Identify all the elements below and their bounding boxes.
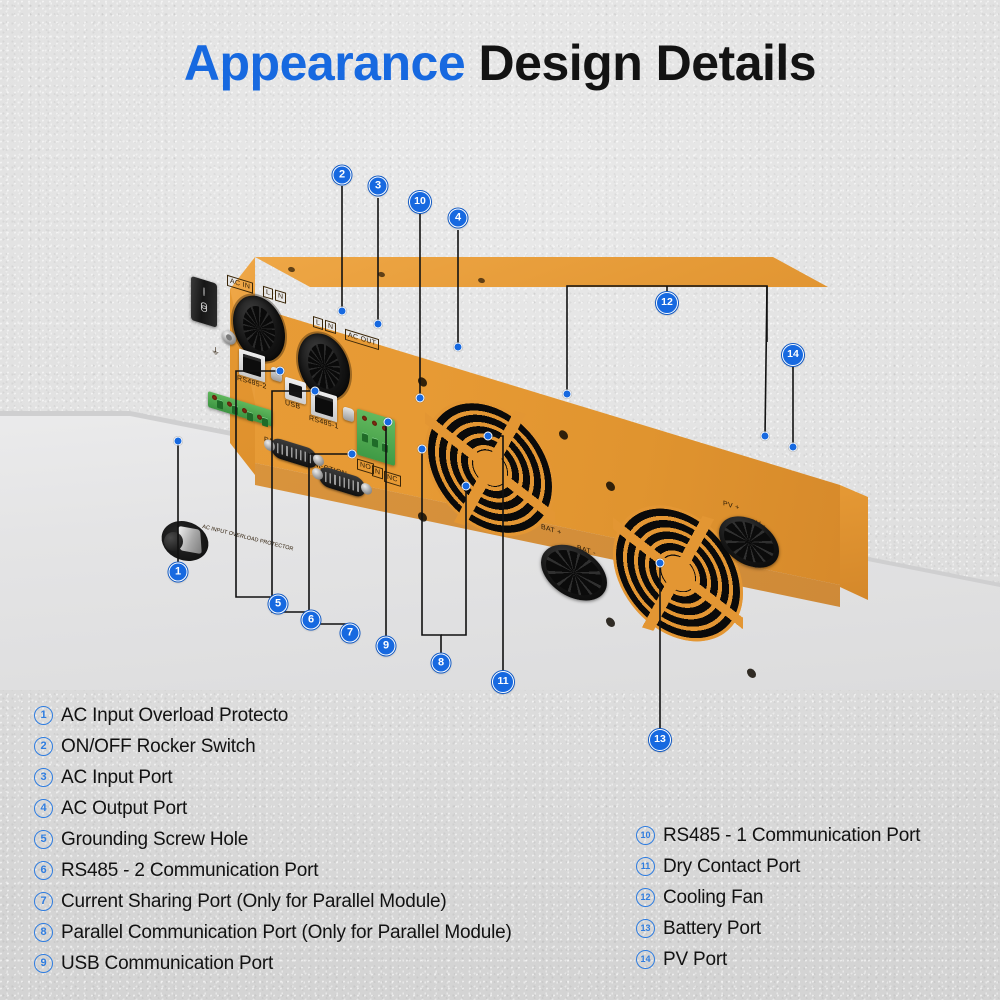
ac-input-overload-protector[interactable]: AC INPUT OVERLOAD PROTECTOR [163,520,207,562]
pv-positive-label: PV + [723,500,740,512]
legend-number-14: 14 [636,950,655,969]
legend-label-10: RS485 - 1 Communication Port [663,825,920,847]
parallel-communication-port-1[interactable] [271,436,317,470]
protector-button[interactable] [164,532,183,551]
legend-number-12: 12 [636,888,655,907]
legend-number-11: 11 [636,857,655,876]
legend-column-right: 10RS485 - 1 Communication Port 11Dry Con… [636,820,920,975]
ac-in-l-label: L [263,286,273,300]
legend: 1AC Input Overload Protecto 2ON/OFF Rock… [34,700,974,995]
legend-column-left: 1AC Input Overload Protecto 2ON/OFF Rock… [34,700,512,979]
legend-label-3: AC Input Port [61,767,172,789]
ac-in-n-label: N [275,289,286,303]
legend-number-5: 5 [34,830,53,849]
legend-number-13: 13 [636,919,655,938]
ac-out-n-label: N [325,320,336,334]
legend-item-5[interactable]: 5Grounding Screw Hole [34,824,512,855]
legend-item-7[interactable]: 7Current Sharing Port (Only for Parallel… [34,886,512,917]
legend-label-7: Current Sharing Port (Only for Parallel … [61,891,447,913]
legend-item-8[interactable]: 8Parallel Communication Port (Only for P… [34,917,512,948]
legend-number-8: 8 [34,923,53,942]
legend-label-9: USB Communication Port [61,953,273,975]
ac-input-port-insert [243,302,275,356]
legend-item-13[interactable]: 13Battery Port [636,913,920,944]
legend-item-9[interactable]: 9USB Communication Port [34,948,512,979]
legend-item-4[interactable]: 4AC Output Port [34,793,512,824]
legend-label-14: PV Port [663,949,727,971]
legend-label-8: Parallel Communication Port (Only for Pa… [61,922,512,944]
ground-symbol-icon: ⏚ [211,343,220,359]
legend-number-6: 6 [34,861,53,880]
legend-label-13: Battery Port [663,918,761,940]
ac-out-l-label: L [313,316,323,330]
legend-item-2[interactable]: 2ON/OFF Rocker Switch [34,731,512,762]
panel-mount-nut [343,406,354,422]
page-title: Appearance Design Details [0,34,1000,92]
top-vent-hole [287,266,295,273]
legend-label-4: AC Output Port [61,798,187,820]
legend-label-6: RS485 - 2 Communication Port [61,860,318,882]
legend-number-9: 9 [34,954,53,973]
legend-label-11: Dry Contact Port [663,856,800,878]
legend-number-1: 1 [34,706,53,725]
top-vent-hole [477,277,485,284]
legend-item-11[interactable]: 11Dry Contact Port [636,851,920,882]
dry-contact-n-label: N [372,465,383,479]
legend-label-2: ON/OFF Rocker Switch [61,736,255,758]
legend-item-3[interactable]: 3AC Input Port [34,762,512,793]
product-photo-scene: AC INPUT OVERLOAD PROTECTOR I O AC IN L … [0,100,1000,690]
ac-output-port-insert [308,340,340,394]
legend-item-6[interactable]: 6RS485 - 2 Communication Port [34,855,512,886]
panel-mount-nut [271,366,282,382]
ac-out-label: AC OUT [345,329,379,350]
dry-contact-port[interactable] [357,408,395,466]
page-title-accent: Appearance [184,35,465,91]
fan-screw [418,376,427,388]
page-title-rest: Design Details [465,35,816,91]
legend-item-12[interactable]: 12Cooling Fan [636,882,920,913]
legend-label-5: Grounding Screw Hole [61,829,248,851]
top-vent-hole [377,271,385,278]
current-sharing-port[interactable] [208,391,272,427]
fan-screw [606,480,615,492]
legend-label-1: AC Input Overload Protecto [61,705,288,727]
legend-number-7: 7 [34,892,53,911]
legend-number-4: 4 [34,799,53,818]
on-off-rocker-switch[interactable]: I O [191,276,217,328]
legend-item-10[interactable]: 10RS485 - 1 Communication Port [636,820,920,851]
legend-label-12: Cooling Fan [663,887,763,909]
legend-number-10: 10 [636,826,655,845]
fan-screw [559,429,568,441]
legend-number-3: 3 [34,768,53,787]
legend-item-14[interactable]: 14PV Port [636,944,920,975]
legend-item-1[interactable]: 1AC Input Overload Protecto [34,700,512,731]
dry-contact-nc-label: NC [384,471,401,487]
legend-number-2: 2 [34,737,53,756]
cooling-fan-1 [425,383,555,553]
